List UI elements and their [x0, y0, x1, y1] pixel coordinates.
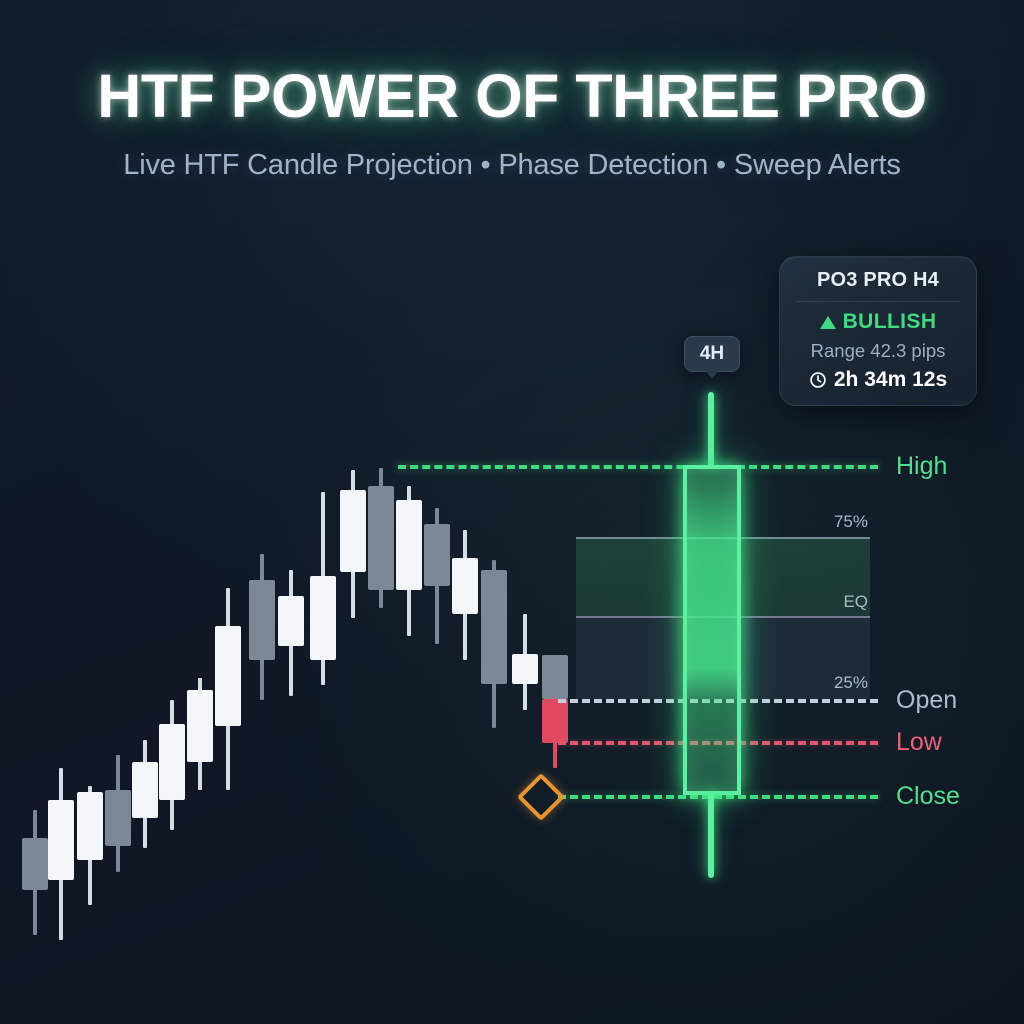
level-label-high: High: [896, 452, 947, 481]
level-label-open: Open: [896, 686, 957, 715]
candle-body: [542, 655, 568, 699]
clock-icon: [809, 371, 827, 389]
level-line-high: [398, 465, 878, 469]
triangle-up-icon: [820, 316, 836, 329]
candle-body: [215, 626, 241, 726]
candle-body: [48, 800, 74, 880]
po3-info-panel[interactable]: PO3 PRO H4 BULLISH Range 42.3 pips 2h 34…: [779, 256, 977, 406]
candle-body: [159, 724, 185, 800]
historical-candles: [0, 0, 1024, 1024]
projected-candle-lower-wick: [708, 792, 714, 878]
candle-body: [132, 762, 158, 818]
candle-body: [396, 500, 422, 590]
projected-candle-body[interactable]: [683, 465, 741, 795]
level-label-close: Close: [896, 782, 960, 811]
candle-body: [310, 576, 336, 660]
candle-body: [452, 558, 478, 614]
zone-label-eq: EQ: [843, 592, 868, 612]
zone-label-25: 25%: [834, 673, 868, 693]
candle-body: [22, 838, 48, 890]
bias-status-badge: BULLISH: [790, 310, 966, 334]
candle-body: [481, 570, 507, 684]
candle-body: [368, 486, 394, 590]
countdown-value: 2h 34m 12s: [834, 368, 947, 392]
candle-body: [340, 490, 366, 572]
level-label-low: Low: [896, 728, 942, 757]
candle-body: [249, 580, 275, 660]
panel-divider: [796, 301, 960, 302]
candle-body: [512, 654, 538, 684]
candle-body: [105, 790, 131, 846]
candle-body: [77, 792, 103, 860]
range-readout: Range 42.3 pips: [790, 340, 966, 362]
candle-body: [187, 690, 213, 762]
timeframe-badge[interactable]: 4H: [684, 336, 740, 372]
level-line-close: [558, 795, 878, 799]
po3-chart-canvas: HTF POWER OF THREE PRO Live HTF Candle P…: [0, 0, 1024, 1024]
candle-body: [542, 699, 568, 743]
countdown-timer: 2h 34m 12s: [790, 368, 966, 392]
candle-body: [278, 596, 304, 646]
panel-title: PO3 PRO H4: [790, 269, 966, 292]
zone-label-75: 75%: [834, 512, 868, 532]
projected-candle-upper-wick: [708, 392, 714, 468]
candle-body: [424, 524, 450, 586]
bias-label: BULLISH: [843, 310, 937, 334]
